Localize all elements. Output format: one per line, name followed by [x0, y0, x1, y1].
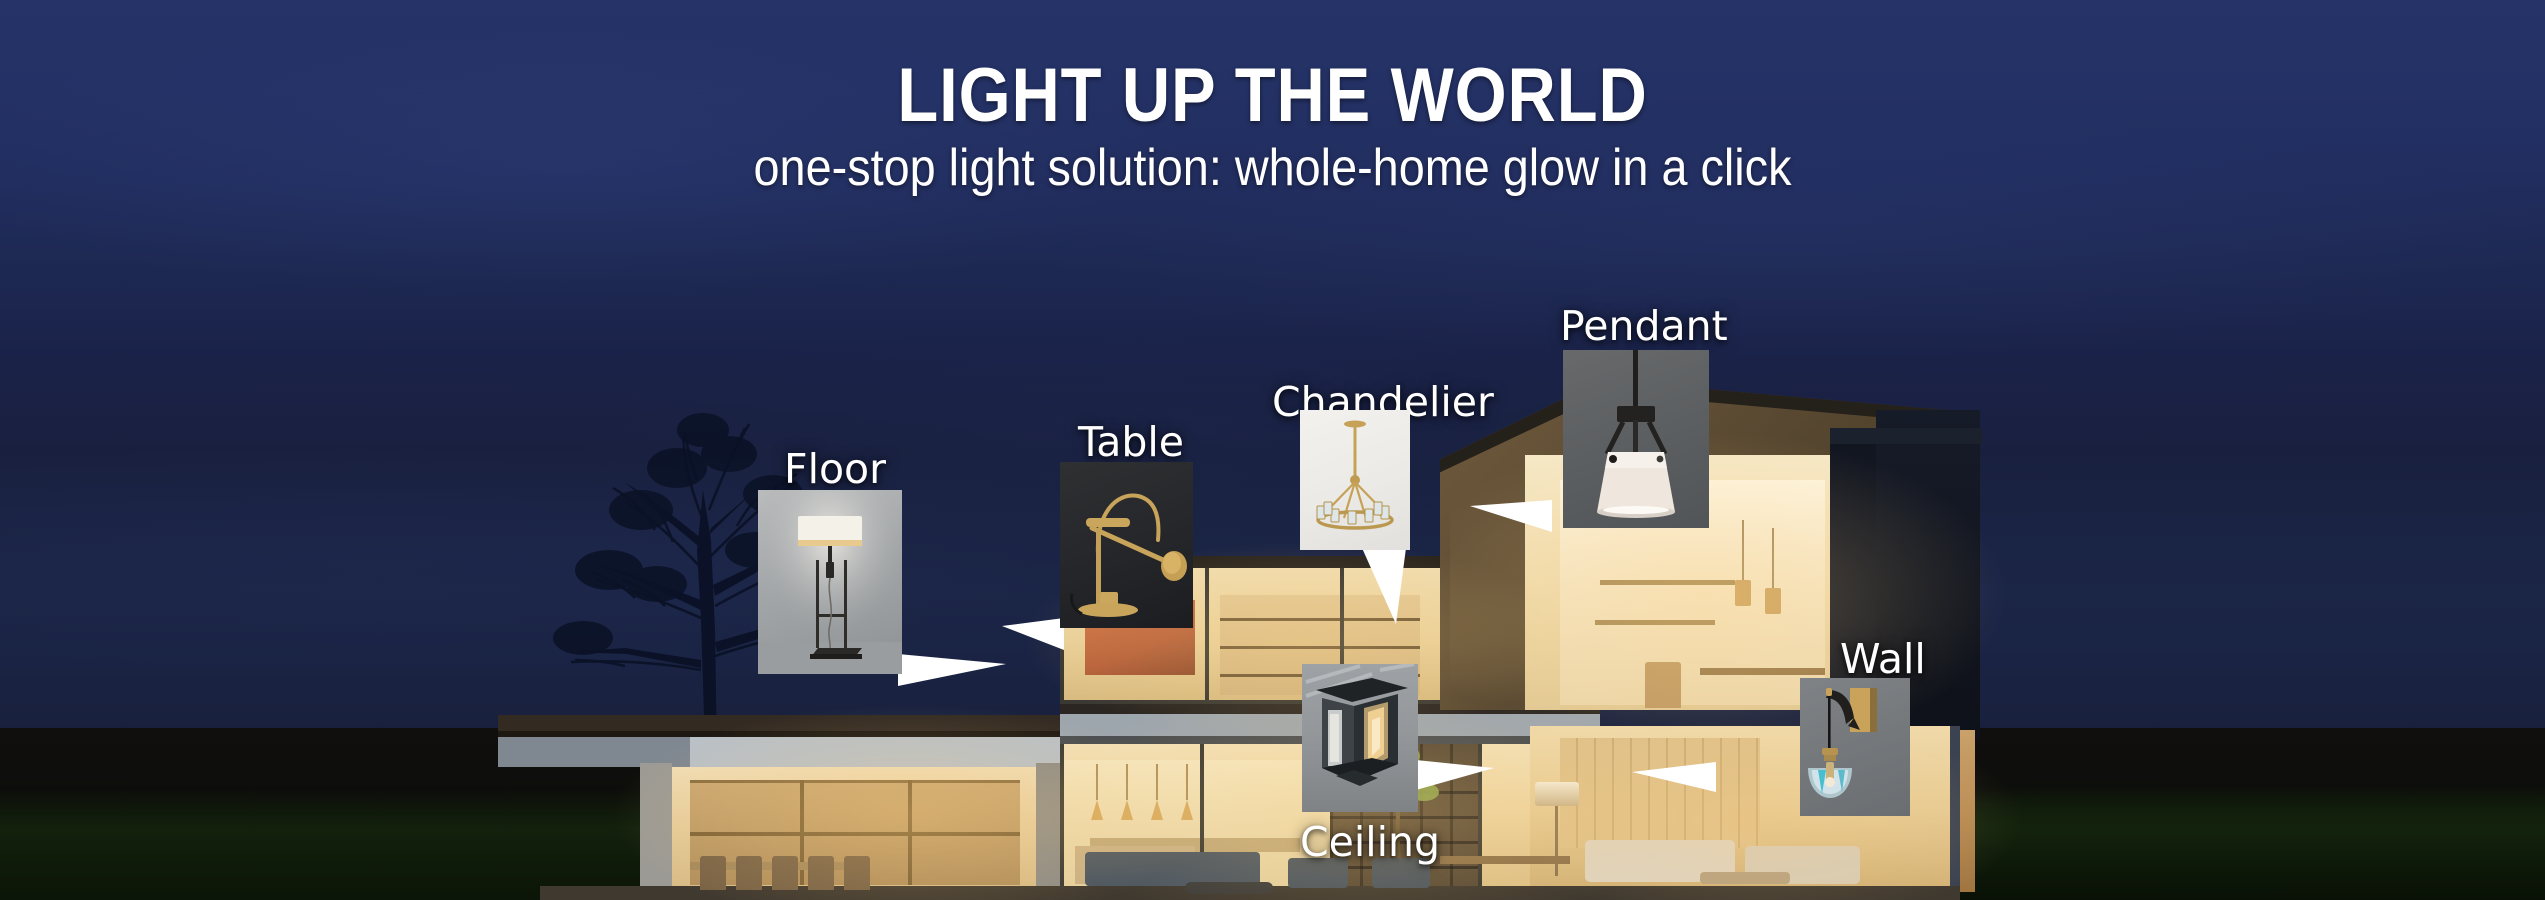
callout-label-wall: Wall: [1840, 635, 1926, 683]
product-card-chandelier[interactable]: [1300, 410, 1410, 550]
pointer-ceiling-icon: [1416, 760, 1494, 790]
product-card-wall[interactable]: [1800, 678, 1910, 816]
table-lamp-icon: [1060, 462, 1193, 628]
lantern-ceiling-mount-icon: [1302, 664, 1418, 812]
pointer-chandelier-icon: [1362, 548, 1406, 624]
callout-label-table: Table: [1078, 418, 1184, 466]
callout-label-pendant: Pendant: [1560, 302, 1728, 350]
banner-subheadline: one-stop light solution: whole-home glow…: [127, 142, 2418, 194]
product-card-ceiling[interactable]: [1302, 664, 1418, 812]
cone-pendant-icon: [1563, 350, 1709, 528]
pointer-wall-icon: [1632, 762, 1716, 792]
glass-dome-sconce-icon: [1800, 678, 1910, 816]
product-card-floor[interactable]: [758, 490, 902, 674]
callout-label-ceiling: Ceiling: [1300, 818, 1440, 866]
callout-label-floor: Floor: [784, 445, 886, 493]
floor-lamp-icon: [758, 490, 902, 674]
pointer-table-icon: [1002, 618, 1064, 650]
banner-stage: LIGHT UP THE WORLD one-stop light soluti…: [0, 0, 2545, 900]
pointer-floor-icon: [898, 654, 1006, 686]
ring-chandelier-icon: [1300, 410, 1410, 550]
pointer-pendant-icon: [1470, 500, 1552, 532]
banner-headline: LIGHT UP THE WORLD: [153, 58, 2393, 134]
product-card-table[interactable]: [1060, 462, 1193, 628]
product-card-pendant[interactable]: [1563, 350, 1709, 528]
